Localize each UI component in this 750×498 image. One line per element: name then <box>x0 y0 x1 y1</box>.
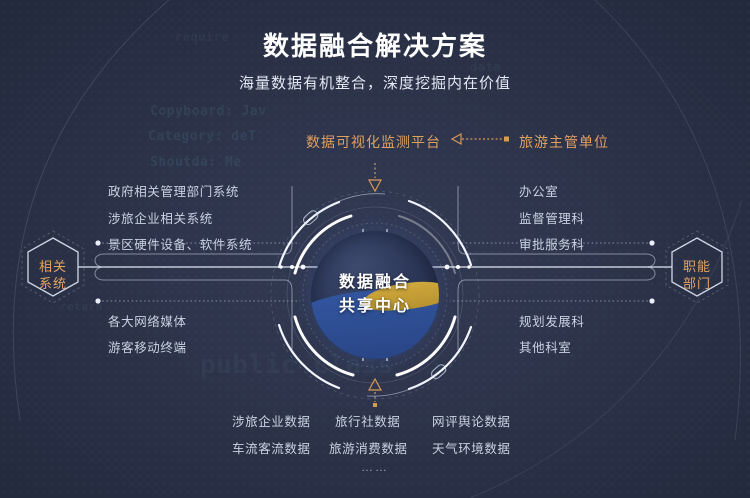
hexagon-left-label[interactable]: 相关 系统 <box>18 258 88 292</box>
ellipsis-label: …… <box>0 460 750 474</box>
hexagon-right-line1: 职能 <box>662 258 732 275</box>
arrow-up-icon <box>369 379 381 407</box>
center-sphere-label: 数据融合 共享中心 <box>311 231 439 359</box>
hexagon-right-label[interactable]: 职能 部门 <box>662 258 732 292</box>
center-line2: 共享中心 <box>339 295 411 319</box>
list-item[interactable]: 审批服务科 <box>519 234 585 253</box>
list-item[interactable]: 景区硬件设备、软件系统 <box>108 234 252 253</box>
list-item[interactable]: 旅游消费数据 <box>329 438 408 457</box>
hexagon-right-line2: 部门 <box>662 275 732 292</box>
watermark-text: Shoutda: Me <box>150 155 242 170</box>
list-item[interactable]: 其他科室 <box>519 337 571 356</box>
list-item[interactable]: 天气环境数据 <box>432 438 511 457</box>
hexagon-left-line1: 相关 <box>18 258 88 275</box>
watermark-text: return <box>60 300 103 313</box>
hexagon-left-line2: 系统 <box>18 275 88 292</box>
list-item[interactable]: 涉旅企业数据 <box>232 411 311 430</box>
list-item[interactable]: 各大网络媒体 <box>108 311 187 330</box>
list-item[interactable]: 游客移动终端 <box>108 337 187 356</box>
label-tourism-authority[interactable]: 旅游主管单位 <box>519 132 609 152</box>
list-item[interactable]: 办公室 <box>519 181 558 200</box>
label-visualization-platform[interactable]: 数据可视化监测平台 <box>306 132 441 152</box>
list-item[interactable]: 网评舆论数据 <box>432 411 511 430</box>
list-item[interactable]: 监督管理科 <box>519 208 585 227</box>
arrow-down-icon <box>369 163 381 191</box>
list-item[interactable]: 车流客流数据 <box>232 438 311 457</box>
infographic-canvas: require Copyboard: Jav Category: deT Sho… <box>0 0 750 498</box>
watermark-text: Copyboard: Jav <box>150 104 267 119</box>
watermark-text: Category: deT <box>148 129 256 144</box>
list-item[interactable]: 涉旅企业相关系统 <box>108 208 213 227</box>
list-item[interactable]: 旅行社数据 <box>335 411 401 430</box>
list-item[interactable]: 规划发展科 <box>519 311 585 330</box>
center-sphere[interactable]: 数据融合 共享中心 <box>311 231 439 359</box>
page-title: 数据融合解决方案 <box>0 26 750 63</box>
page-subtitle: 海量数据有机整合，深度挖掘内在价值 <box>0 72 750 93</box>
center-line1: 数据融合 <box>339 271 411 295</box>
list-item[interactable]: 政府相关管理部门系统 <box>108 181 239 200</box>
